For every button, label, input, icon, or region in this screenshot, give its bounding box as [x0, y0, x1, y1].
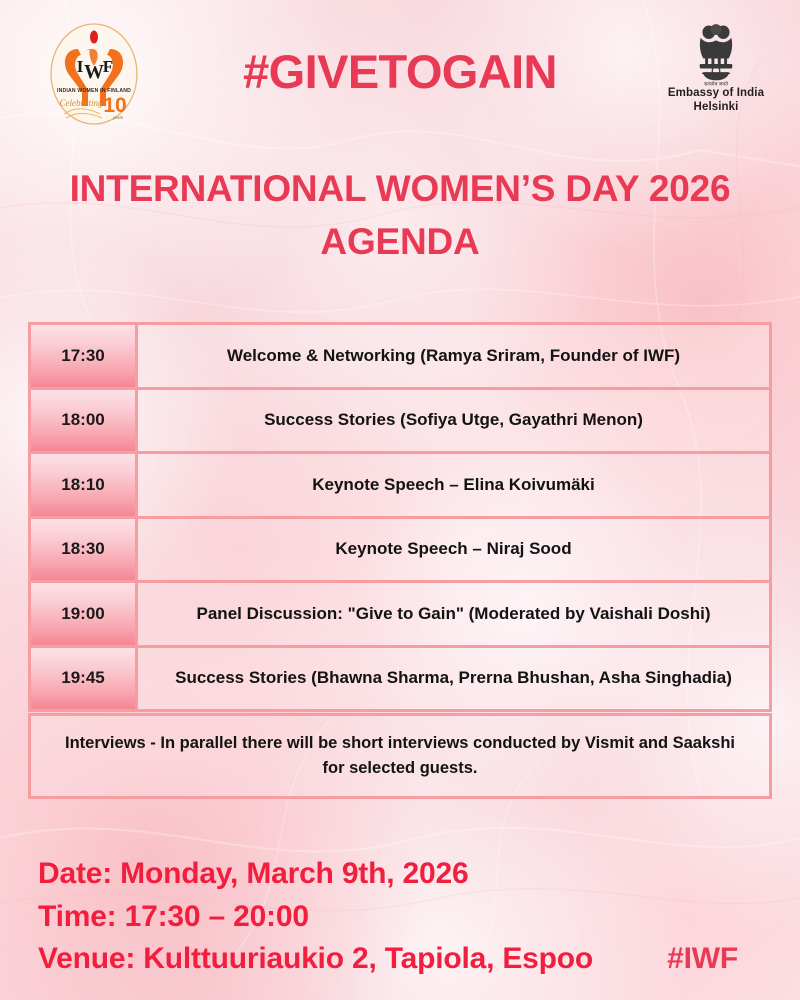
agenda-description-cell: Success Stories (Sofiya Utge, Gayathri M…: [138, 390, 769, 452]
embassy-label-line1: Embassy of India: [662, 87, 770, 101]
agenda-time-cell: 18:10: [31, 454, 138, 516]
poster-canvas: I W F INDIAN WOMEN IN FINLAND Celebratin…: [0, 0, 800, 1000]
event-date: Date: Monday, March 9th, 2026: [38, 853, 762, 896]
hashtag-iwf: #IWF: [667, 938, 762, 981]
emblem-motto: सत्यमेव जयते: [704, 80, 728, 86]
table-row: 18:00 Success Stories (Sofiya Utge, Gaya…: [31, 390, 769, 455]
event-venue: Venue: Kulttuuriaukio 2, Tapiola, Espoo: [38, 938, 593, 981]
table-row: 17:30 Welcome & Networking (Ramya Sriram…: [31, 325, 769, 390]
agenda-description-cell: Welcome & Networking (Ramya Sriram, Foun…: [138, 325, 769, 387]
poster-header: I W F INDIAN WOMEN IN FINLAND Celebratin…: [0, 0, 800, 140]
embassy-label-line2: Helsinki: [662, 101, 770, 115]
agenda-note: Interviews - In parallel there will be s…: [28, 713, 772, 799]
embassy-of-india-logo: सत्यमेव जयते Embassy of India Helsinki: [662, 22, 770, 122]
table-row: 19:45 Success Stories (Bhawna Sharma, Pr…: [31, 648, 769, 713]
agenda-table: 17:30 Welcome & Networking (Ramya Sriram…: [28, 322, 772, 712]
agenda-time-cell: 19:45: [31, 648, 138, 710]
table-row: 19:00 Panel Discussion: "Give to Gain" (…: [31, 583, 769, 648]
india-national-emblem-icon: सत्यमेव जयते: [687, 22, 745, 86]
table-row: 18:30 Keynote Speech – Niraj Sood: [31, 519, 769, 584]
agenda-time-cell: 17:30: [31, 325, 138, 387]
agenda-description-cell: Keynote Speech – Elina Koivumäki: [138, 454, 769, 516]
agenda-description-cell: Keynote Speech – Niraj Sood: [138, 519, 769, 581]
iwf-logo-anniversary-unit: years: [113, 115, 123, 120]
iwf-logo-celebrating-text: Celebrating: [60, 98, 103, 108]
event-time: Time: 17:30 – 20:00: [38, 896, 762, 939]
agenda-time-cell: 18:00: [31, 390, 138, 452]
page-title-line2: AGENDA: [0, 216, 800, 269]
page-title: INTERNATIONAL WOMEN’S DAY 2026 AGENDA: [0, 163, 800, 268]
agenda-description-cell: Panel Discussion: "Give to Gain" (Modera…: [138, 583, 769, 645]
venue-row: Venue: Kulttuuriaukio 2, Tapiola, Espoo …: [38, 938, 762, 981]
agenda-time-cell: 19:00: [31, 583, 138, 645]
page-title-line1: INTERNATIONAL WOMEN’S DAY 2026: [0, 163, 800, 216]
table-row: 18:10 Keynote Speech – Elina Koivumäki: [31, 454, 769, 519]
agenda-description-cell: Success Stories (Bhawna Sharma, Prerna B…: [138, 648, 769, 710]
event-details: Date: Monday, March 9th, 2026 Time: 17:3…: [38, 853, 762, 981]
agenda-time-cell: 18:30: [31, 519, 138, 581]
